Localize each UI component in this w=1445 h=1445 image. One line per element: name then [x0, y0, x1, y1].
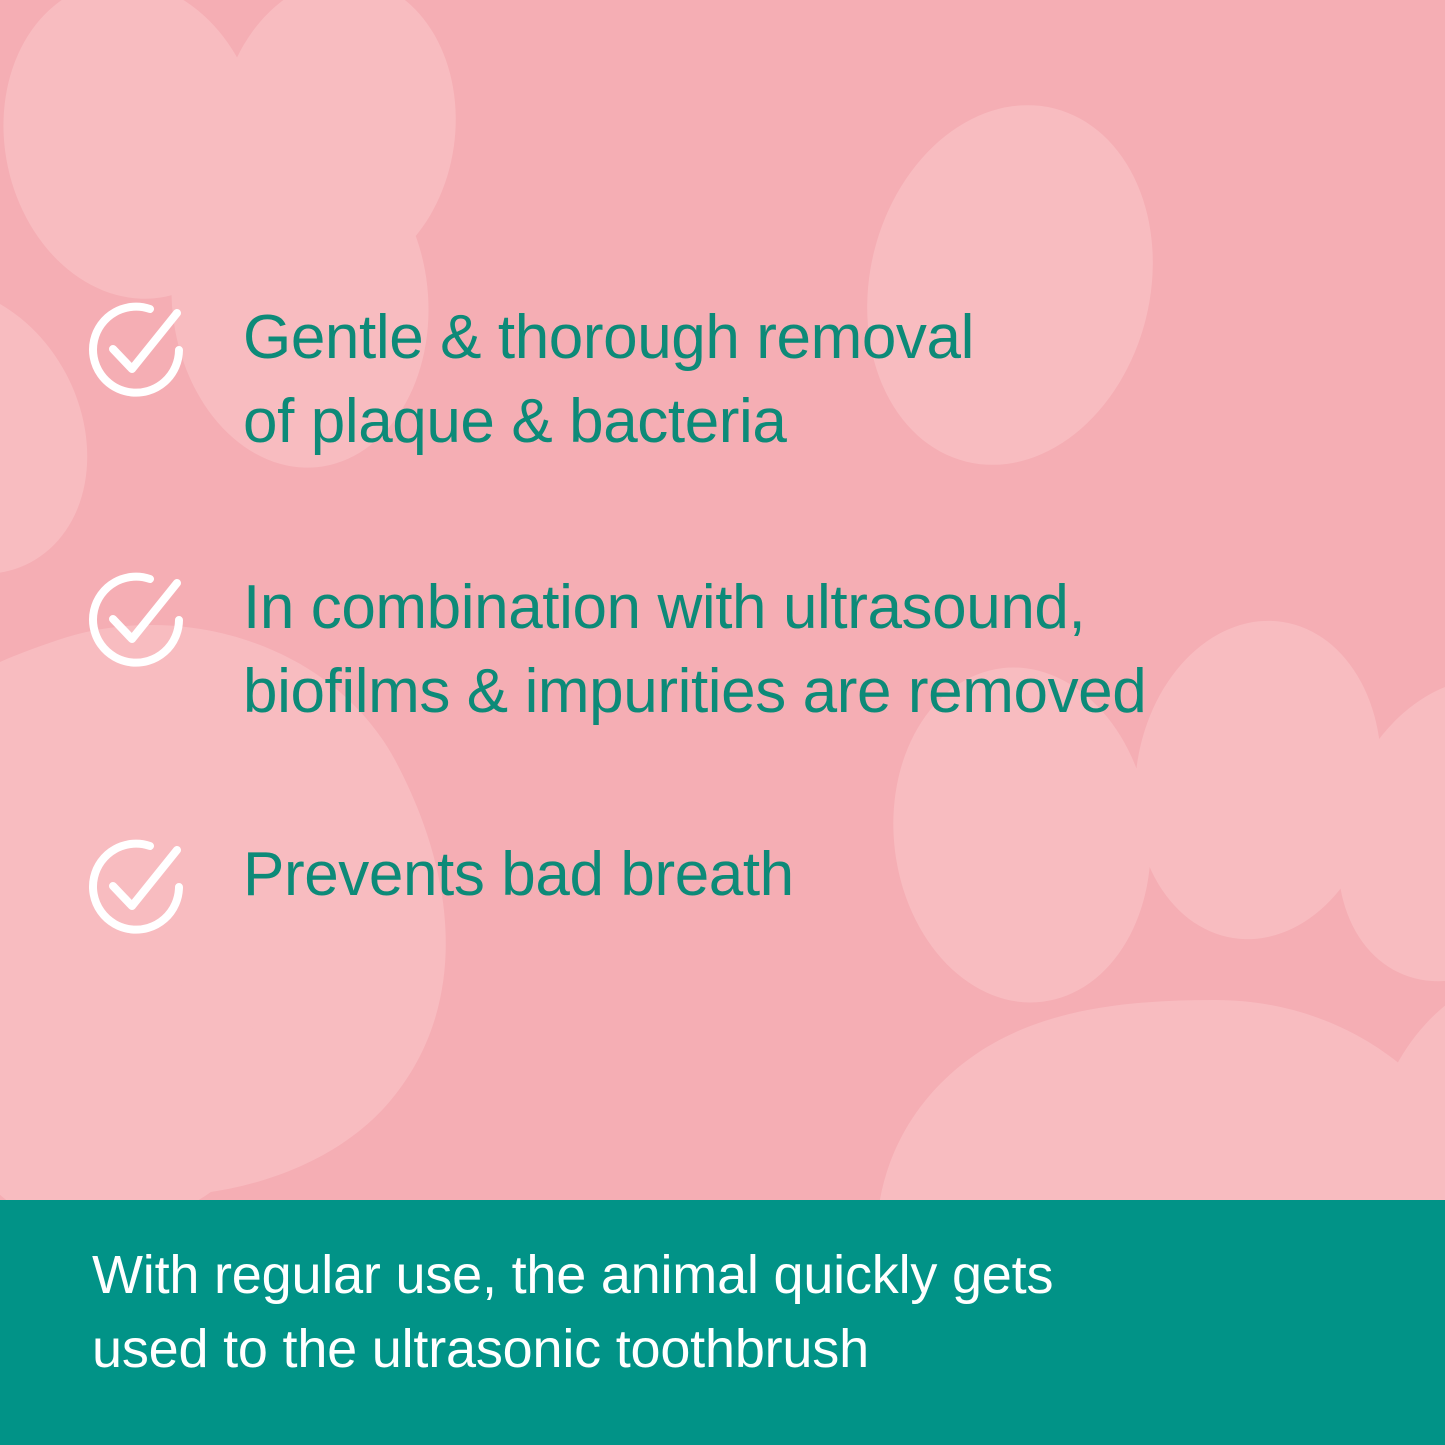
- paw-toe: [1112, 603, 1403, 957]
- paw-toe: [1294, 641, 1445, 1019]
- check-circle-icon: [88, 570, 188, 670]
- list-item: Gentle & thorough removal of plaque & ba…: [88, 296, 974, 464]
- footer-banner-text: With regular use, the animal quickly get…: [92, 1238, 1372, 1386]
- list-item-label: Gentle & thorough removal of plaque & ba…: [243, 296, 974, 464]
- product-benefits-poster: Gentle & thorough removal of plaque & ba…: [0, 0, 1445, 1445]
- list-item: In combination with ultrasound, biofilms…: [88, 566, 1146, 734]
- footer-banner: With regular use, the animal quickly get…: [0, 1200, 1445, 1445]
- check-circle-icon: [88, 837, 188, 937]
- list-item: Prevents bad breath: [88, 833, 794, 937]
- paw-toe: [0, 0, 291, 323]
- paw-toe: [199, 0, 475, 297]
- check-circle-icon: [88, 300, 188, 400]
- list-item-label: Prevents bad breath: [243, 833, 794, 917]
- list-item-label: In combination with ultrasound, biofilms…: [243, 566, 1146, 734]
